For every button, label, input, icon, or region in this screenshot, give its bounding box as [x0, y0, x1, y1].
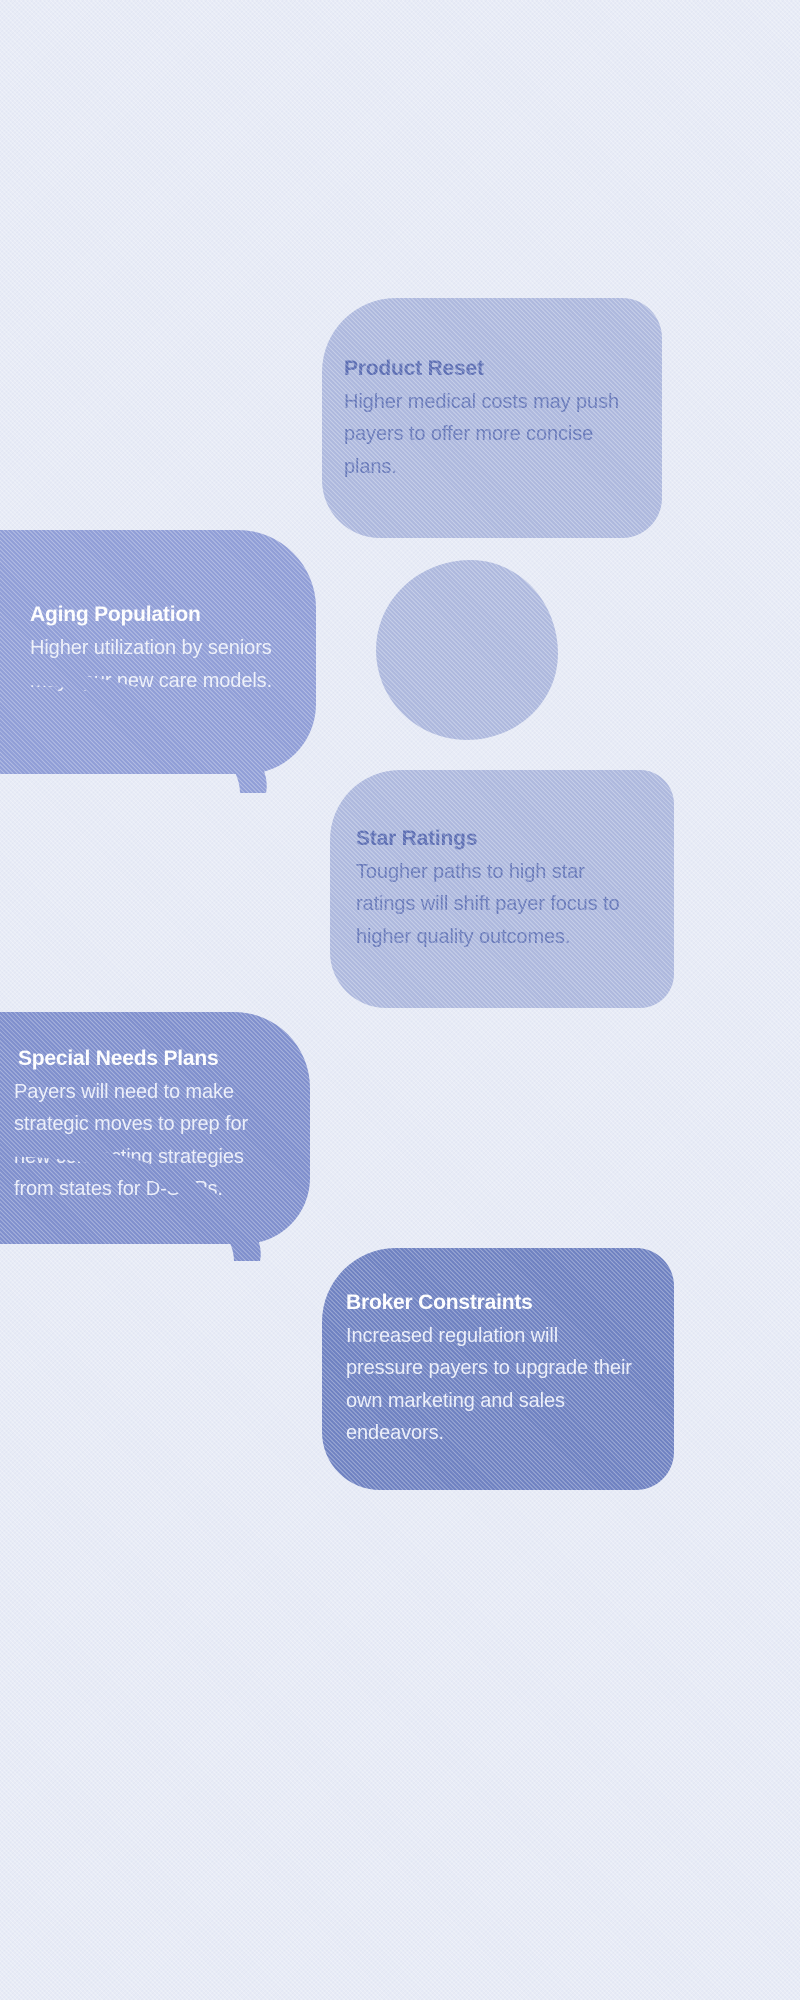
card-title: Broker Constraints: [346, 1291, 640, 1315]
infographic-canvas: Product Reset Higher medical costs may p…: [0, 0, 800, 2000]
card-body: Payers will need to make strategic moves…: [14, 1076, 278, 1206]
card-broker-constraints[interactable]: Broker Constraints Increased regulation …: [322, 1248, 674, 1490]
card-title: Aging Population: [30, 603, 276, 627]
card-title: Special Needs Plans: [14, 1047, 278, 1071]
decorative-circle: [376, 560, 558, 740]
card-body: Tougher paths to high star ratings will …: [356, 856, 638, 953]
card-title: Product Reset: [344, 357, 622, 381]
card-special-needs-plans[interactable]: Special Needs Plans Payers will need to …: [0, 1012, 310, 1244]
card-product-reset[interactable]: Product Reset Higher medical costs may p…: [322, 298, 662, 538]
card-body: Increased regulation will pressure payer…: [346, 1320, 640, 1450]
card-aging-population[interactable]: Aging Population Higher utilization by s…: [0, 530, 316, 774]
card-star-ratings[interactable]: Star Ratings Tougher paths to high star …: [330, 770, 674, 1008]
card-body: Higher utilization by seniors may spur n…: [30, 632, 276, 697]
card-body: Higher medical costs may push payers to …: [344, 386, 622, 483]
card-title: Star Ratings: [356, 827, 638, 851]
